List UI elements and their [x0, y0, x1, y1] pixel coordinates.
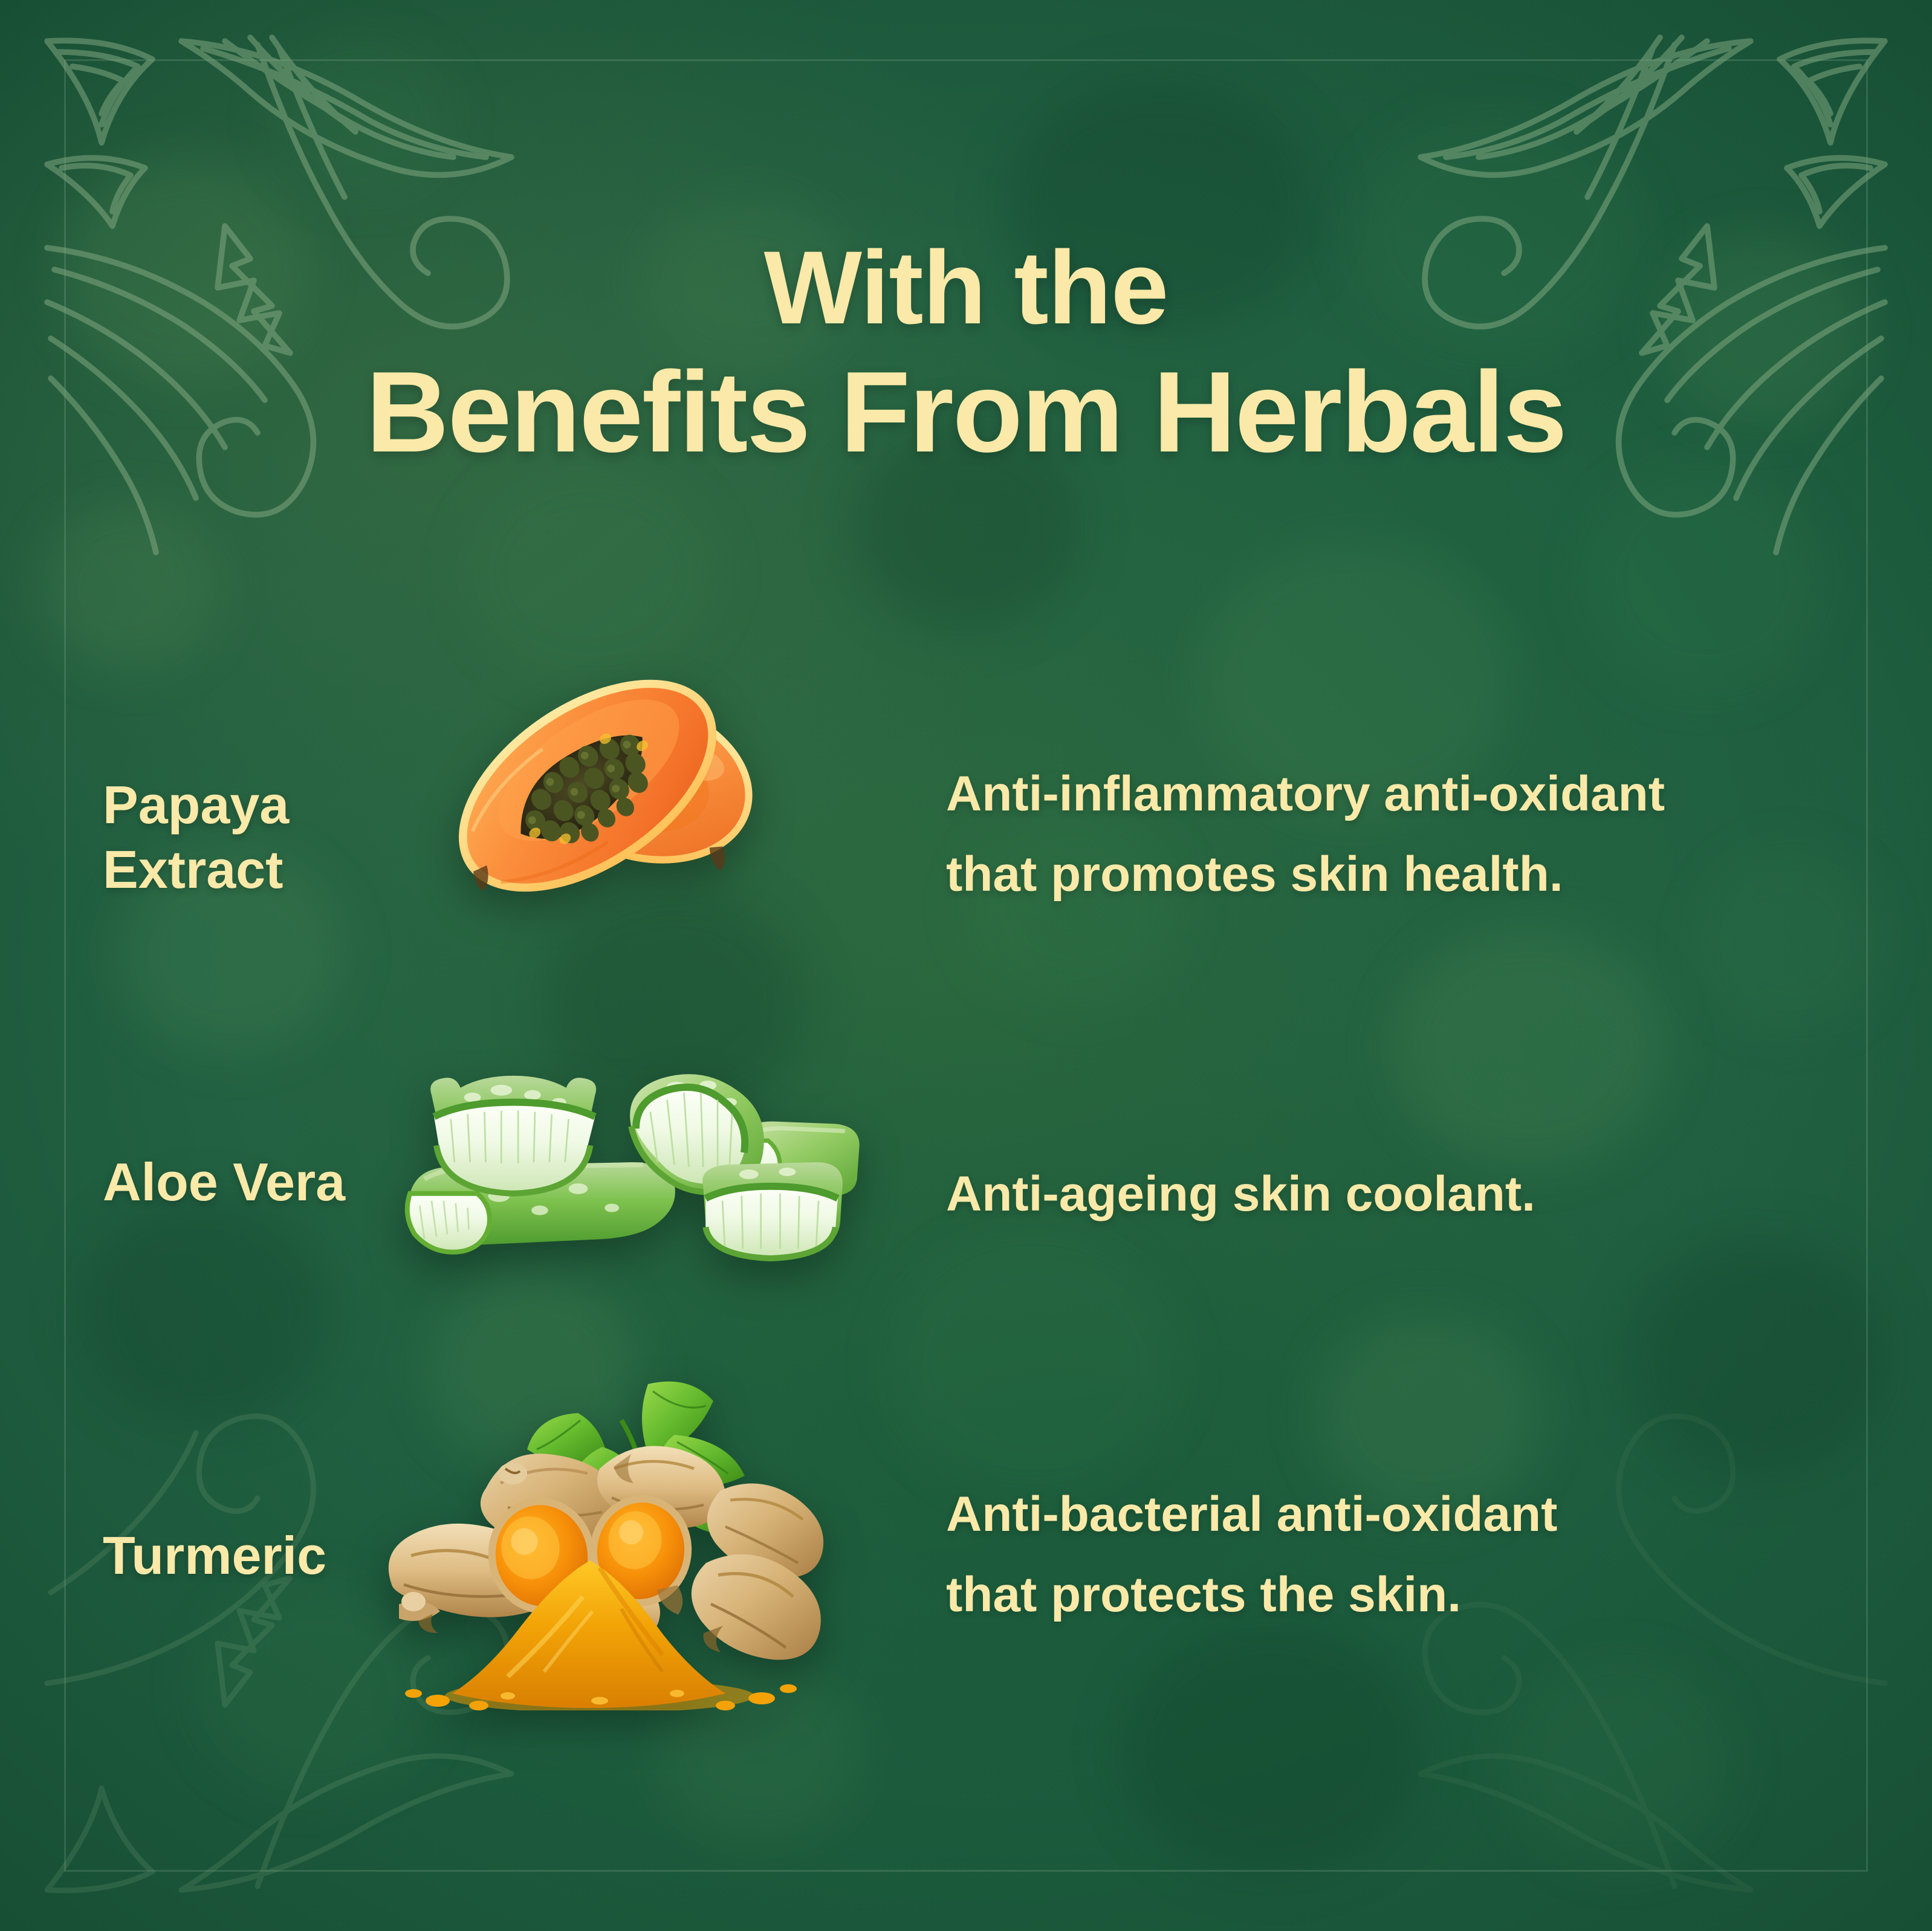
aloe-vera-slices-image	[387, 1069, 870, 1268]
ingredient-label-line-1: Aloe Vera	[103, 1150, 345, 1214]
ingredient-label-line-1: Turmeric	[103, 1523, 326, 1588]
turmeric-root-powder-image	[363, 1372, 870, 1710]
papaya-halves-image	[406, 645, 854, 960]
ingredient-row-papaya: Papaya Extract	[0, 635, 1932, 1021]
ingredient-row-turmeric: Turmeric	[0, 1408, 1932, 1795]
description-line-1: Anti-ageing skin coolant.	[946, 1154, 1859, 1235]
ingredient-description-papaya: Anti-inflammatory anti-oxidant that prom…	[946, 754, 1859, 915]
herbal-benefits-poster: With the Benefits From Herbals Papaya Ex…	[0, 0, 1932, 1931]
ingredient-description-aloe-vera: Anti-ageing skin coolant.	[946, 1154, 1859, 1235]
description-line-2: that promotes skin health.	[946, 835, 1859, 915]
ingredient-label-line-1: Papaya	[103, 772, 289, 837]
title-line-1: With the	[0, 228, 1932, 347]
ingredient-label-turmeric: Turmeric	[103, 1523, 326, 1588]
ingredient-label-aloe-vera: Aloe Vera	[103, 1150, 345, 1214]
ingredient-label-papaya: Papaya Extract	[103, 772, 289, 902]
ingredient-description-turmeric: Anti-bacterial anti-oxidant that protect…	[946, 1475, 1859, 1635]
description-line-1: Anti-bacterial anti-oxidant	[946, 1475, 1859, 1555]
page-title: With the Benefits From Herbals	[0, 228, 1932, 478]
ingredient-row-aloe-vera: Aloe Vera	[0, 1058, 1932, 1444]
description-line-1: Anti-inflammatory anti-oxidant	[946, 754, 1859, 835]
description-line-2: that protects the skin.	[946, 1555, 1859, 1635]
ingredient-label-line-2: Extract	[103, 837, 289, 902]
title-line-2: Benefits From Herbals	[0, 347, 1932, 478]
